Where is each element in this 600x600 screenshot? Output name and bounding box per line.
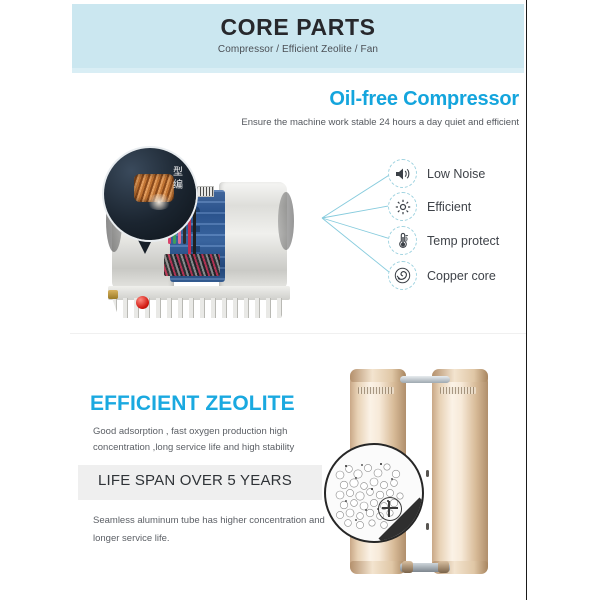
feature-label: Low Noise <box>427 167 485 181</box>
magnifier-highlight <box>146 194 172 210</box>
zeolite-description: Good adsorption , fast oxygen production… <box>93 424 333 456</box>
zeolite-heading: EFFICIENT ZEOLITE <box>90 392 295 416</box>
compressor-brass-fitting <box>108 290 118 299</box>
callout-line-1: 型 <box>168 166 188 179</box>
compressor-subheading: Ensure the machine work stable 24 hours … <box>150 117 519 128</box>
thermometer-icon <box>388 226 417 255</box>
feature-connector-lines <box>318 160 396 290</box>
tube-bottom-fitting-right <box>438 561 449 573</box>
tube-top-connector <box>400 376 450 383</box>
feature-item-temp-protect[interactable]: Temp protect <box>388 226 499 255</box>
compressor-heading: Oil-free Compressor <box>214 88 519 111</box>
feature-label: Temp protect <box>427 234 499 248</box>
canvas-right-border <box>526 0 527 600</box>
tube-left-bottom-cap <box>350 561 406 574</box>
product-infographic: CORE PARTS Compressor / Efficient Zeolit… <box>0 0 600 600</box>
feature-item-efficient[interactable]: Efficient <box>388 192 471 221</box>
compressor-photo: 型 编 <box>82 150 322 330</box>
feature-item-copper-core[interactable]: Copper core <box>388 261 496 290</box>
magnifier-callout-text: 型 编 <box>168 166 188 192</box>
compressor-right-port <box>278 192 294 250</box>
compressor-wire-bundle <box>164 254 220 276</box>
feature-item-low-noise[interactable]: Low Noise <box>388 159 485 188</box>
tube-left-top-cap <box>350 369 406 382</box>
page-title: CORE PARTS <box>72 14 524 41</box>
coil-spiral-icon <box>388 261 417 290</box>
tube-bottom-fitting-left <box>402 561 413 573</box>
callout-line-2: 编 <box>168 179 188 192</box>
compressor-base-plate <box>108 286 290 300</box>
tube-right-label <box>440 387 476 394</box>
tube-right-port <box>426 470 429 477</box>
feature-label: Efficient <box>427 200 471 214</box>
section-divider <box>70 333 526 334</box>
plus-crosshair-icon <box>378 497 402 521</box>
feature-label: Copper core <box>427 269 496 283</box>
header-band-underline <box>72 68 524 73</box>
bead-magnifier-icon <box>324 443 424 543</box>
page-subtitle: Compressor / Efficient Zeolite / Fan <box>72 44 524 55</box>
zeolite-tube-right <box>432 375 488 571</box>
lifespan-banner-text: LIFE SPAN OVER 5 YEARS <box>98 472 292 489</box>
tube-left-label <box>358 387 394 394</box>
compressor-indicator-light <box>136 296 149 309</box>
zeolite-note: Seamless aluminum tube has higher concen… <box>93 512 349 548</box>
tube-right-port-lower <box>426 523 429 530</box>
compressor-magnifier-circle: 型 编 <box>104 148 196 240</box>
gear-icon <box>388 192 417 221</box>
zeolite-tubes-photo <box>336 365 514 580</box>
compressor-right-housing <box>219 182 287 290</box>
speaker-volume-icon <box>388 159 417 188</box>
